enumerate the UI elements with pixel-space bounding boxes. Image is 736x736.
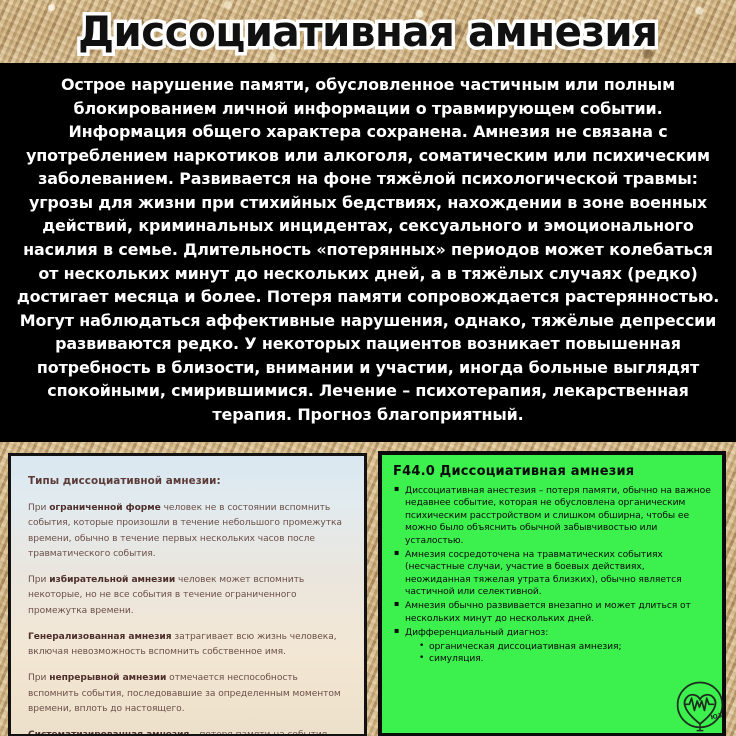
description-section: Острое нарушение памяти, обусловленное ч… [0,63,736,442]
icd-bullet-item: Амнезия сосредоточена на травматических … [393,549,712,599]
differential-diagnosis-item: органическая диссоциативная амнезия; [419,641,712,654]
amnesia-type-item: Систематизированная амнезия – потеря пам… [28,728,348,736]
amnesia-type-item: Генерализованная амнезия затрагивает всю… [28,630,348,661]
icd-bullet-item: Дифференциальный диагноз:органическая ди… [393,627,712,666]
amnesia-type-lead: При [28,673,49,683]
amnesia-type-lead: При [28,575,49,585]
svg-text:ЮЗ: ЮЗ [710,712,723,721]
icd-bullet-list: Диссоциативная анестезия – потеря памяти… [393,485,712,666]
amnesia-type-lead: При [28,503,49,513]
amnesia-type-name: ограниченной форме [49,503,161,513]
types-panel: Типы диссоциативной амнезии: При огранич… [8,453,367,736]
amnesia-type-name: Систематизированная амнезия [28,730,189,736]
icd-bullet-item: Амнезия обычно развивается внезапно и мо… [393,600,712,625]
icd-panel-heading: F44.0 Диссоциативная амнезия [393,464,712,479]
description-paragraph: Острое нарушение памяти, обусловленное ч… [13,73,722,426]
icd-bullet-item: Диссоциативная анестезия – потеря памяти… [393,485,712,547]
amnesia-type-name: непрерывной амнезии [49,673,166,683]
amnesia-type-name: Генерализованная амнезия [28,632,172,642]
types-list: При ограниченной форме человек не в сост… [28,501,348,736]
amnesia-type-name: избирательной амнезии [49,575,175,585]
infographic-page: Диссоциативная амнезия Острое нарушение … [0,0,736,736]
differential-diagnosis-list: органическая диссоциативная амнезия;симу… [405,641,712,667]
heart-ecg-logo-icon: ЮЗ [672,678,728,734]
page-title: Диссоциативная амнезия [78,11,658,53]
differential-diagnosis-item: симуляция. [419,653,712,666]
title-banner: Диссоциативная амнезия [0,0,736,63]
amnesia-type-item: При избирательной амнезии человек может … [28,573,348,619]
types-panel-heading: Типы диссоциативной амнезии: [28,475,348,487]
bottom-section: Типы диссоциативной амнезии: При огранич… [0,442,736,736]
amnesia-type-item: При непрерывной амнезии отмечается неспо… [28,671,348,717]
amnesia-type-item: При ограниченной форме человек не в сост… [28,501,348,562]
